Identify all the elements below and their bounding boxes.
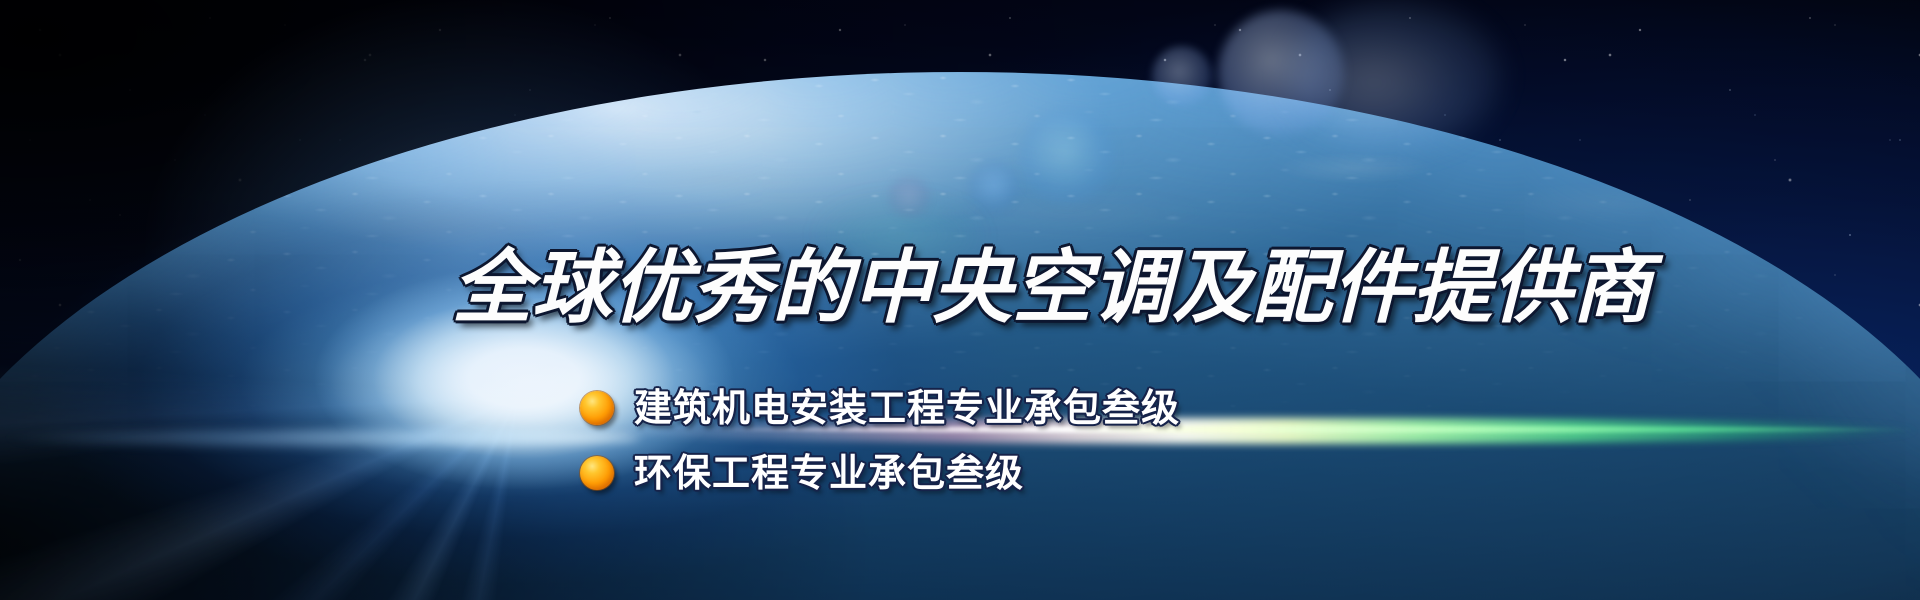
bullet-item-2-label: 环保工程专业承包叁级 bbox=[634, 454, 1024, 492]
bullet-item-2: 环保工程专业承包叁级 bbox=[580, 449, 1180, 497]
orange-dot-icon bbox=[580, 456, 614, 490]
banner-content: 全球优秀的中央空调及配件提供商 建筑机电安装工程专业承包叁级 环保工程专业承包叁… bbox=[0, 0, 1920, 600]
banner-bullet-list: 建筑机电安装工程专业承包叁级 环保工程专业承包叁级 bbox=[580, 384, 1180, 514]
bullet-item-1-label: 建筑机电安装工程专业承包叁级 bbox=[634, 389, 1180, 427]
bullet-item-1: 建筑机电安装工程专业承包叁级 bbox=[580, 384, 1180, 432]
orange-dot-icon bbox=[580, 391, 614, 425]
banner-headline: 全球优秀的中央空调及配件提供商 bbox=[452, 248, 1652, 328]
hero-banner: 全球优秀的中央空调及配件提供商 建筑机电安装工程专业承包叁级 环保工程专业承包叁… bbox=[0, 0, 1920, 600]
